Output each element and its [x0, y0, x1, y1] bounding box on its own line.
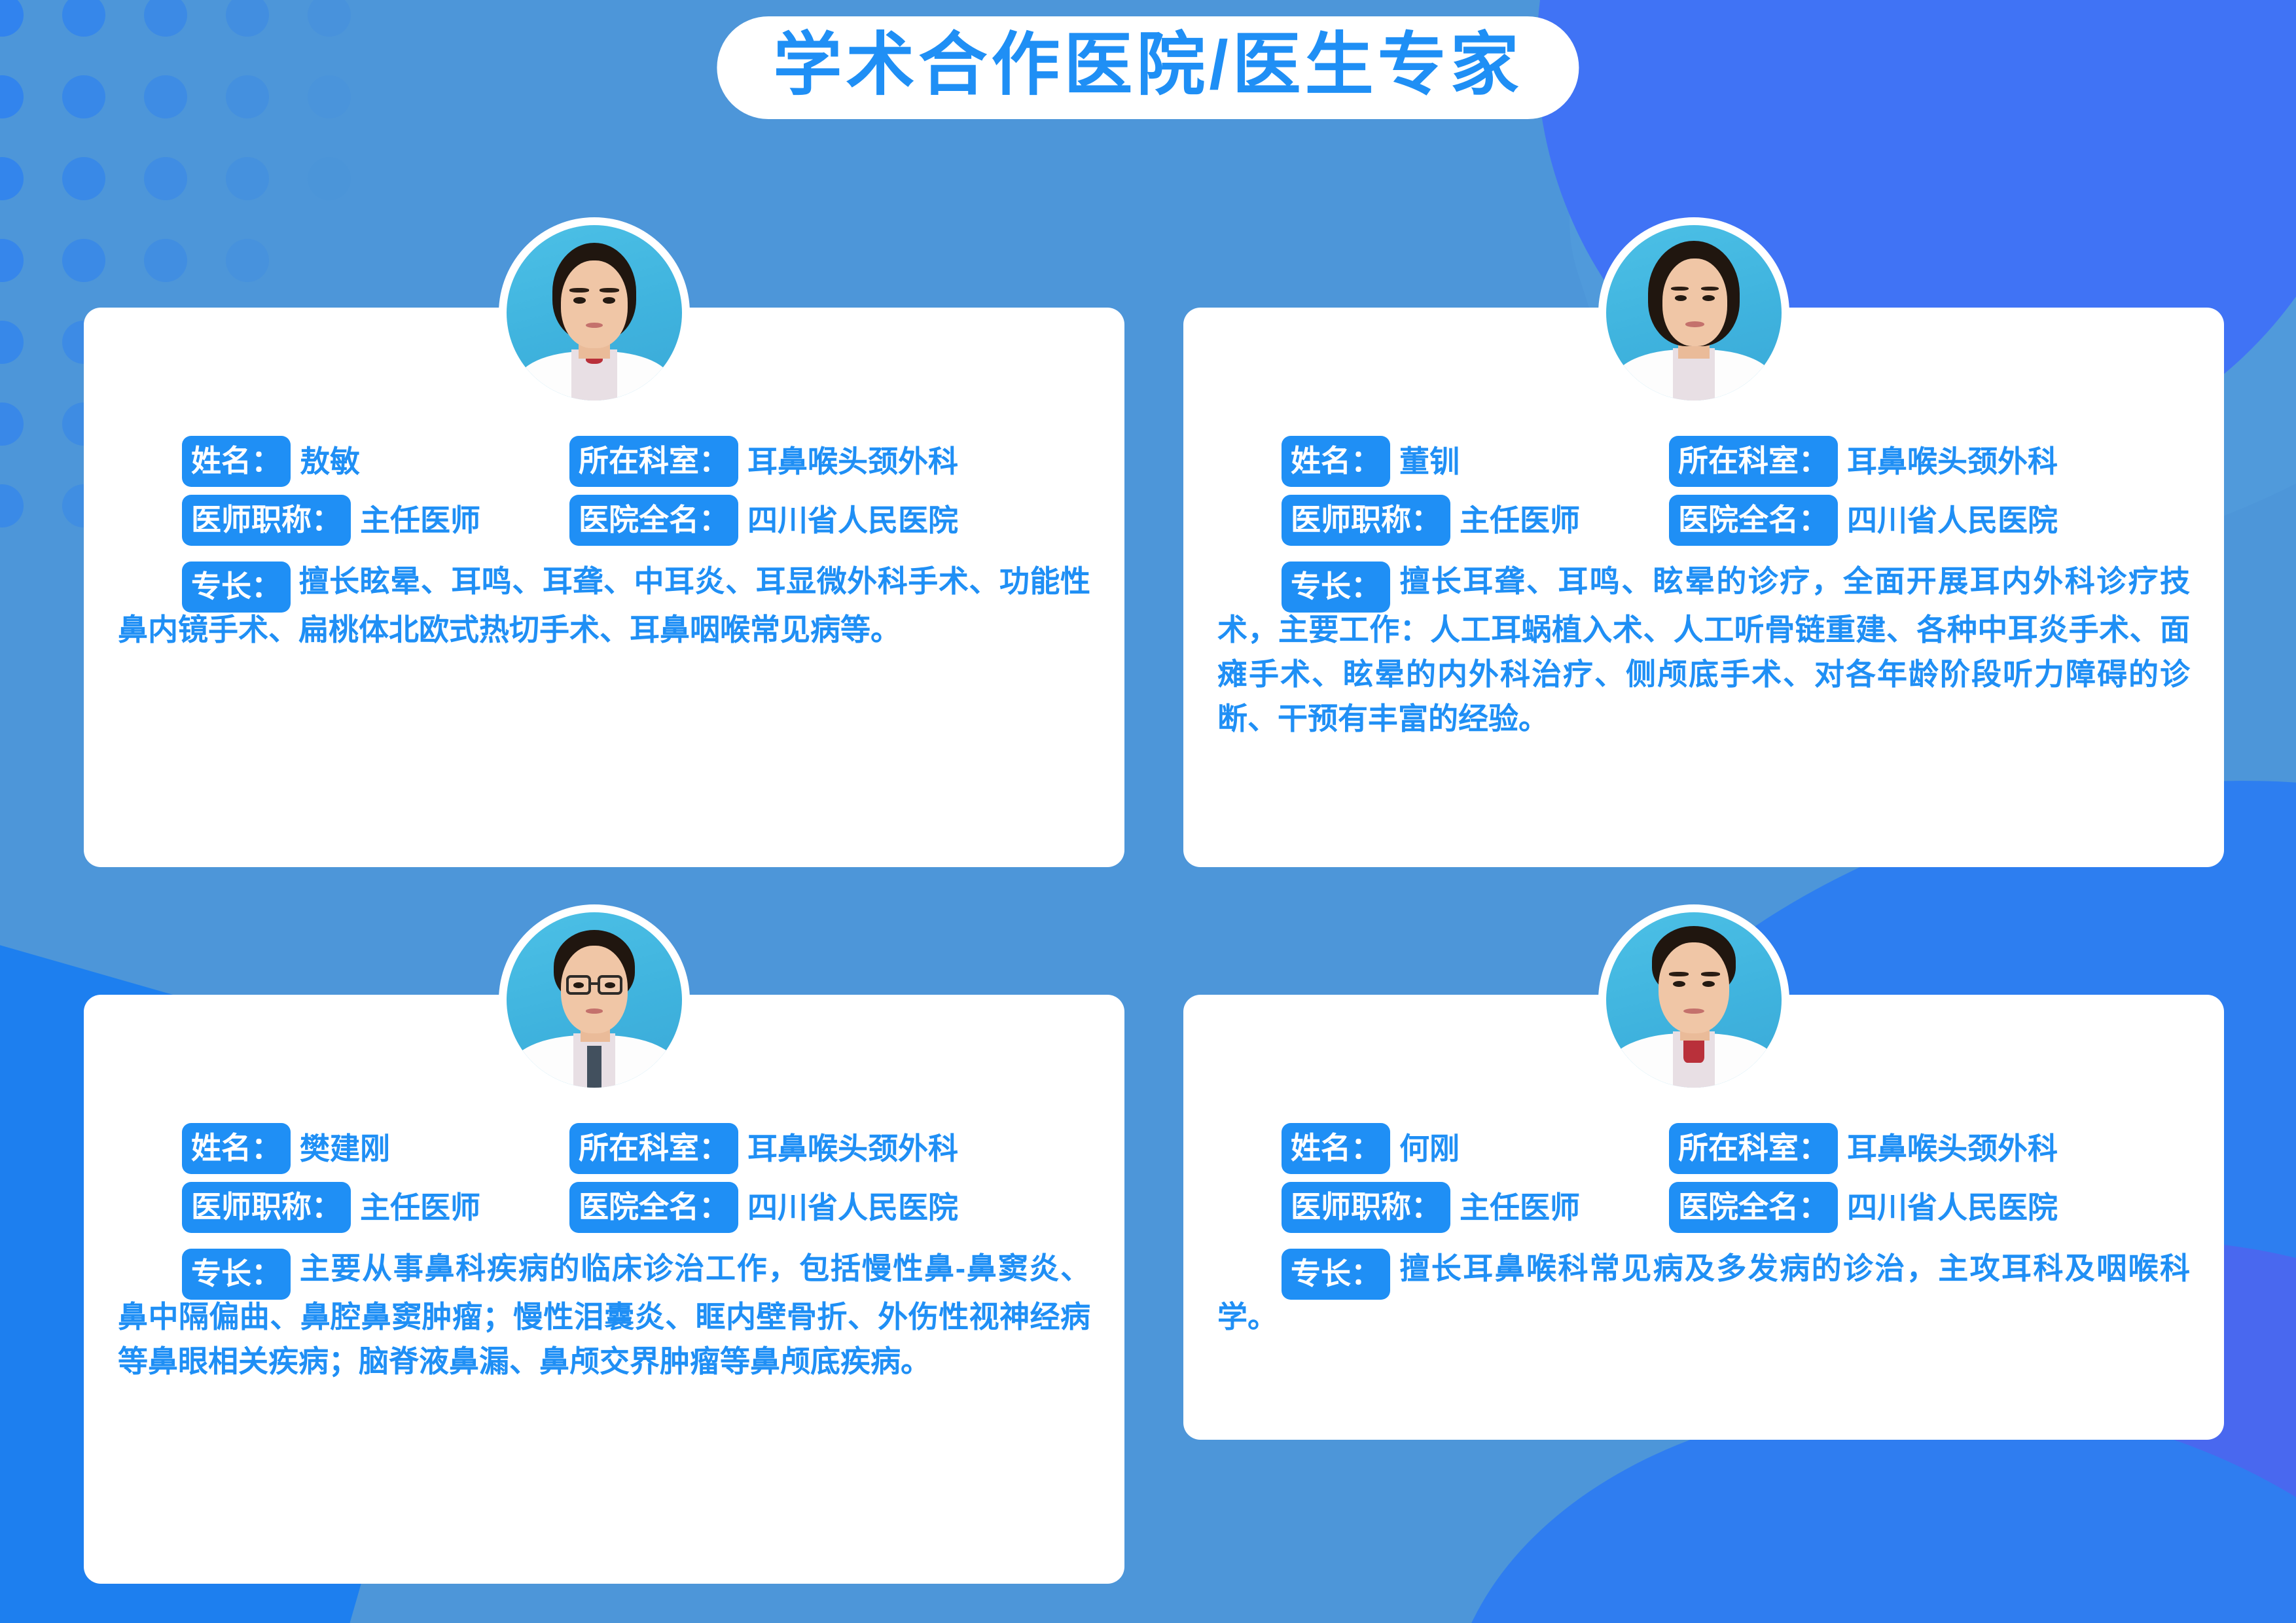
label-name: 姓名： [1282, 1123, 1390, 1174]
label-specialty: 专长： [1282, 1249, 1390, 1300]
meta-department: 所在科室： 耳鼻喉头颈外科 [1669, 1123, 2190, 1174]
meta-hospital: 医院全名： 四川省人民医院 [1669, 1182, 2190, 1233]
doctor-photo [1606, 912, 1782, 1088]
label-hospital: 医院全名： [569, 495, 738, 546]
doctor-meta-grid: 姓名： 董钏 所在科室： 耳鼻喉头颈外科 医师职称： 主任医师 医院全名： 四川… [1217, 436, 2190, 546]
value-hospital: 四川省人民医院 [747, 1192, 958, 1222]
doctor-specialty: 专长：擅长耳聋、耳鸣、眩晕的诊疗，全面开展耳内外科诊疗技术，主要工作：人工耳蜗植… [1217, 556, 2190, 741]
label-department: 所在科室： [569, 1123, 738, 1174]
page-title-pill: 学术合作医院/医生专家 [717, 16, 1579, 119]
avatar [499, 217, 690, 408]
label-specialty: 专长： [1282, 562, 1390, 613]
page-title-container: 学术合作医院/医生专家 [717, 16, 1579, 119]
doctor-specialty: 专长：擅长眩晕、耳鸣、耳聋、中耳炎、耳显微外科手术、功能性鼻内镜手术、扁桃体北欧… [118, 556, 1090, 652]
value-title-rank: 主任医师 [360, 1192, 480, 1222]
value-hospital: 四川省人民医院 [1847, 1192, 2058, 1222]
label-title-rank: 医师职称： [1282, 1182, 1450, 1233]
label-department: 所在科室： [569, 436, 738, 487]
label-name: 姓名： [1282, 436, 1390, 487]
doctor-meta-grid: 姓名： 敖敏 所在科室： 耳鼻喉头颈外科 医师职称： 主任医师 医院全名： 四川… [118, 436, 1090, 546]
meta-hospital: 医院全名： 四川省人民医院 [1669, 495, 2190, 546]
meta-name: 姓名： 敖敏 [118, 436, 569, 487]
label-title-rank: 医师职称： [182, 1182, 351, 1233]
label-title-rank: 医师职称： [182, 495, 351, 546]
avatar [499, 904, 690, 1096]
doctor-photo [1606, 225, 1782, 401]
label-department: 所在科室： [1669, 1123, 1838, 1174]
doctor-specialty: 专长：擅长耳鼻喉科常见病及多发病的诊治，主攻耳科及咽喉科学。 [1217, 1243, 2190, 1339]
meta-title-rank: 医师职称： 主任医师 [118, 1182, 569, 1233]
value-hospital: 四川省人民医院 [1847, 505, 2058, 535]
label-title-rank: 医师职称： [1282, 495, 1450, 546]
avatar [1598, 904, 1789, 1096]
meta-hospital: 医院全名： 四川省人民医院 [569, 1182, 1090, 1233]
meta-hospital: 医院全名： 四川省人民医院 [569, 495, 1090, 546]
doctor-meta-grid: 姓名： 樊建刚 所在科室： 耳鼻喉头颈外科 医师职称： 主任医师 医院全名： 四… [118, 1123, 1090, 1233]
value-name: 何刚 [1399, 1133, 1460, 1164]
page-title: 学术合作医院/医生专家 [773, 31, 1522, 99]
specialty-lead: 专长： [118, 1251, 298, 1285]
doctor-card-grid: 姓名： 敖敏 所在科室： 耳鼻喉头颈外科 医师职称： 主任医师 医院全名： 四川… [0, 0, 2296, 1623]
value-name: 樊建刚 [300, 1133, 390, 1164]
meta-title-rank: 医师职称： 主任医师 [118, 495, 569, 546]
value-department: 耳鼻喉头颈外科 [1847, 446, 2058, 476]
meta-title-rank: 医师职称： 主任医师 [1217, 1182, 1669, 1233]
label-specialty: 专长： [182, 1249, 291, 1300]
label-department: 所在科室： [1669, 436, 1838, 487]
meta-name: 姓名： 樊建刚 [118, 1123, 569, 1174]
value-title-rank: 主任医师 [1460, 505, 1580, 535]
label-name: 姓名： [182, 436, 291, 487]
label-name: 姓名： [182, 1123, 291, 1174]
label-specialty: 专长： [182, 562, 291, 613]
meta-name: 姓名： 董钏 [1217, 436, 1669, 487]
label-hospital: 医院全名： [1669, 1182, 1838, 1233]
value-hospital: 四川省人民医院 [747, 505, 958, 535]
specialty-lead: 专长： [1217, 1251, 1398, 1285]
value-name: 董钏 [1399, 446, 1460, 476]
doctor-meta-grid: 姓名： 何刚 所在科室： 耳鼻喉头颈外科 医师职称： 主任医师 医院全名： 四川… [1217, 1123, 2190, 1233]
value-department: 耳鼻喉头颈外科 [747, 1133, 958, 1164]
doctor-photo [507, 225, 682, 401]
avatar [1598, 217, 1789, 408]
meta-department: 所在科室： 耳鼻喉头颈外科 [569, 436, 1090, 487]
meta-department: 所在科室： 耳鼻喉头颈外科 [569, 1123, 1090, 1174]
meta-department: 所在科室： 耳鼻喉头颈外科 [1669, 436, 2190, 487]
value-title-rank: 主任医师 [360, 505, 480, 535]
meta-name: 姓名： 何刚 [1217, 1123, 1669, 1174]
label-hospital: 医院全名： [569, 1182, 738, 1233]
specialty-lead: 专长： [118, 564, 298, 598]
meta-title-rank: 医师职称： 主任医师 [1217, 495, 1669, 546]
specialty-lead: 专长： [1217, 564, 1398, 598]
doctor-photo [507, 912, 682, 1088]
value-department: 耳鼻喉头颈外科 [1847, 1133, 2058, 1164]
value-name: 敖敏 [300, 446, 360, 476]
value-title-rank: 主任医师 [1460, 1192, 1580, 1222]
doctor-specialty: 专长：主要从事鼻科疾病的临床诊治工作，包括慢性鼻-鼻窦炎、鼻中隔偏曲、鼻腔鼻窦肿… [118, 1243, 1090, 1383]
value-department: 耳鼻喉头颈外科 [747, 446, 958, 476]
label-hospital: 医院全名： [1669, 495, 1838, 546]
